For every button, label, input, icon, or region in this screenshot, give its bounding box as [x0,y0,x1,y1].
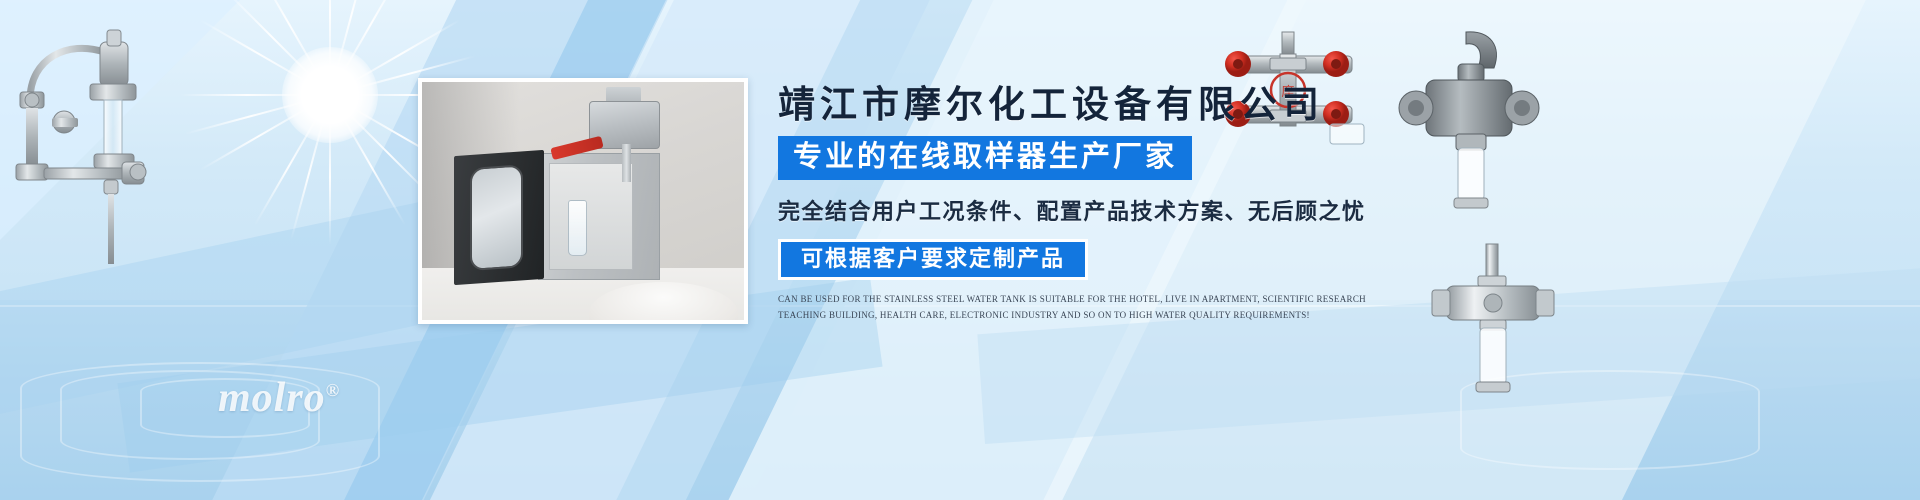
sun-ray [329,95,331,245]
sun-ray [180,94,330,96]
photo-sample-bottle [568,200,588,257]
sub-headline: 完全结合用户工况条件、配置产品技术方案、无后顾之忧 [778,194,1458,226]
banner-copy: 靖江市摩尔化工设备有限公司 专业的在线取样器生产厂家 完全结合用户工况条件、配置… [778,74,1458,324]
headline-badge: 专业的在线取样器生产厂家 [778,136,1192,180]
company-name: 靖江市摩尔化工设备有限公司 [778,74,1458,128]
photo-cabinet [538,153,660,279]
promo-banner: 摩 [0,0,1920,500]
photo-door-window [470,165,522,271]
sun-ray [329,0,331,95]
product-photo-image [422,82,744,320]
photo-vertical-pipe [622,144,632,182]
cta-badge[interactable]: 可根据客户要求定制产品 [778,239,1088,280]
photo-cabinet-door [454,150,544,285]
fineprint-text: CAN BE USED FOR THE STAINLESS STEEL WATE… [778,292,1388,324]
photo-cabinet-interior [549,163,633,270]
registered-trademark-icon: ® [326,380,340,400]
left-product-sampling-valve [8,22,178,282]
product-photo [418,78,748,324]
brand-watermark: molro® [218,374,340,422]
sun-ray [223,0,330,96]
watermark-wordmark: molro [218,375,326,421]
